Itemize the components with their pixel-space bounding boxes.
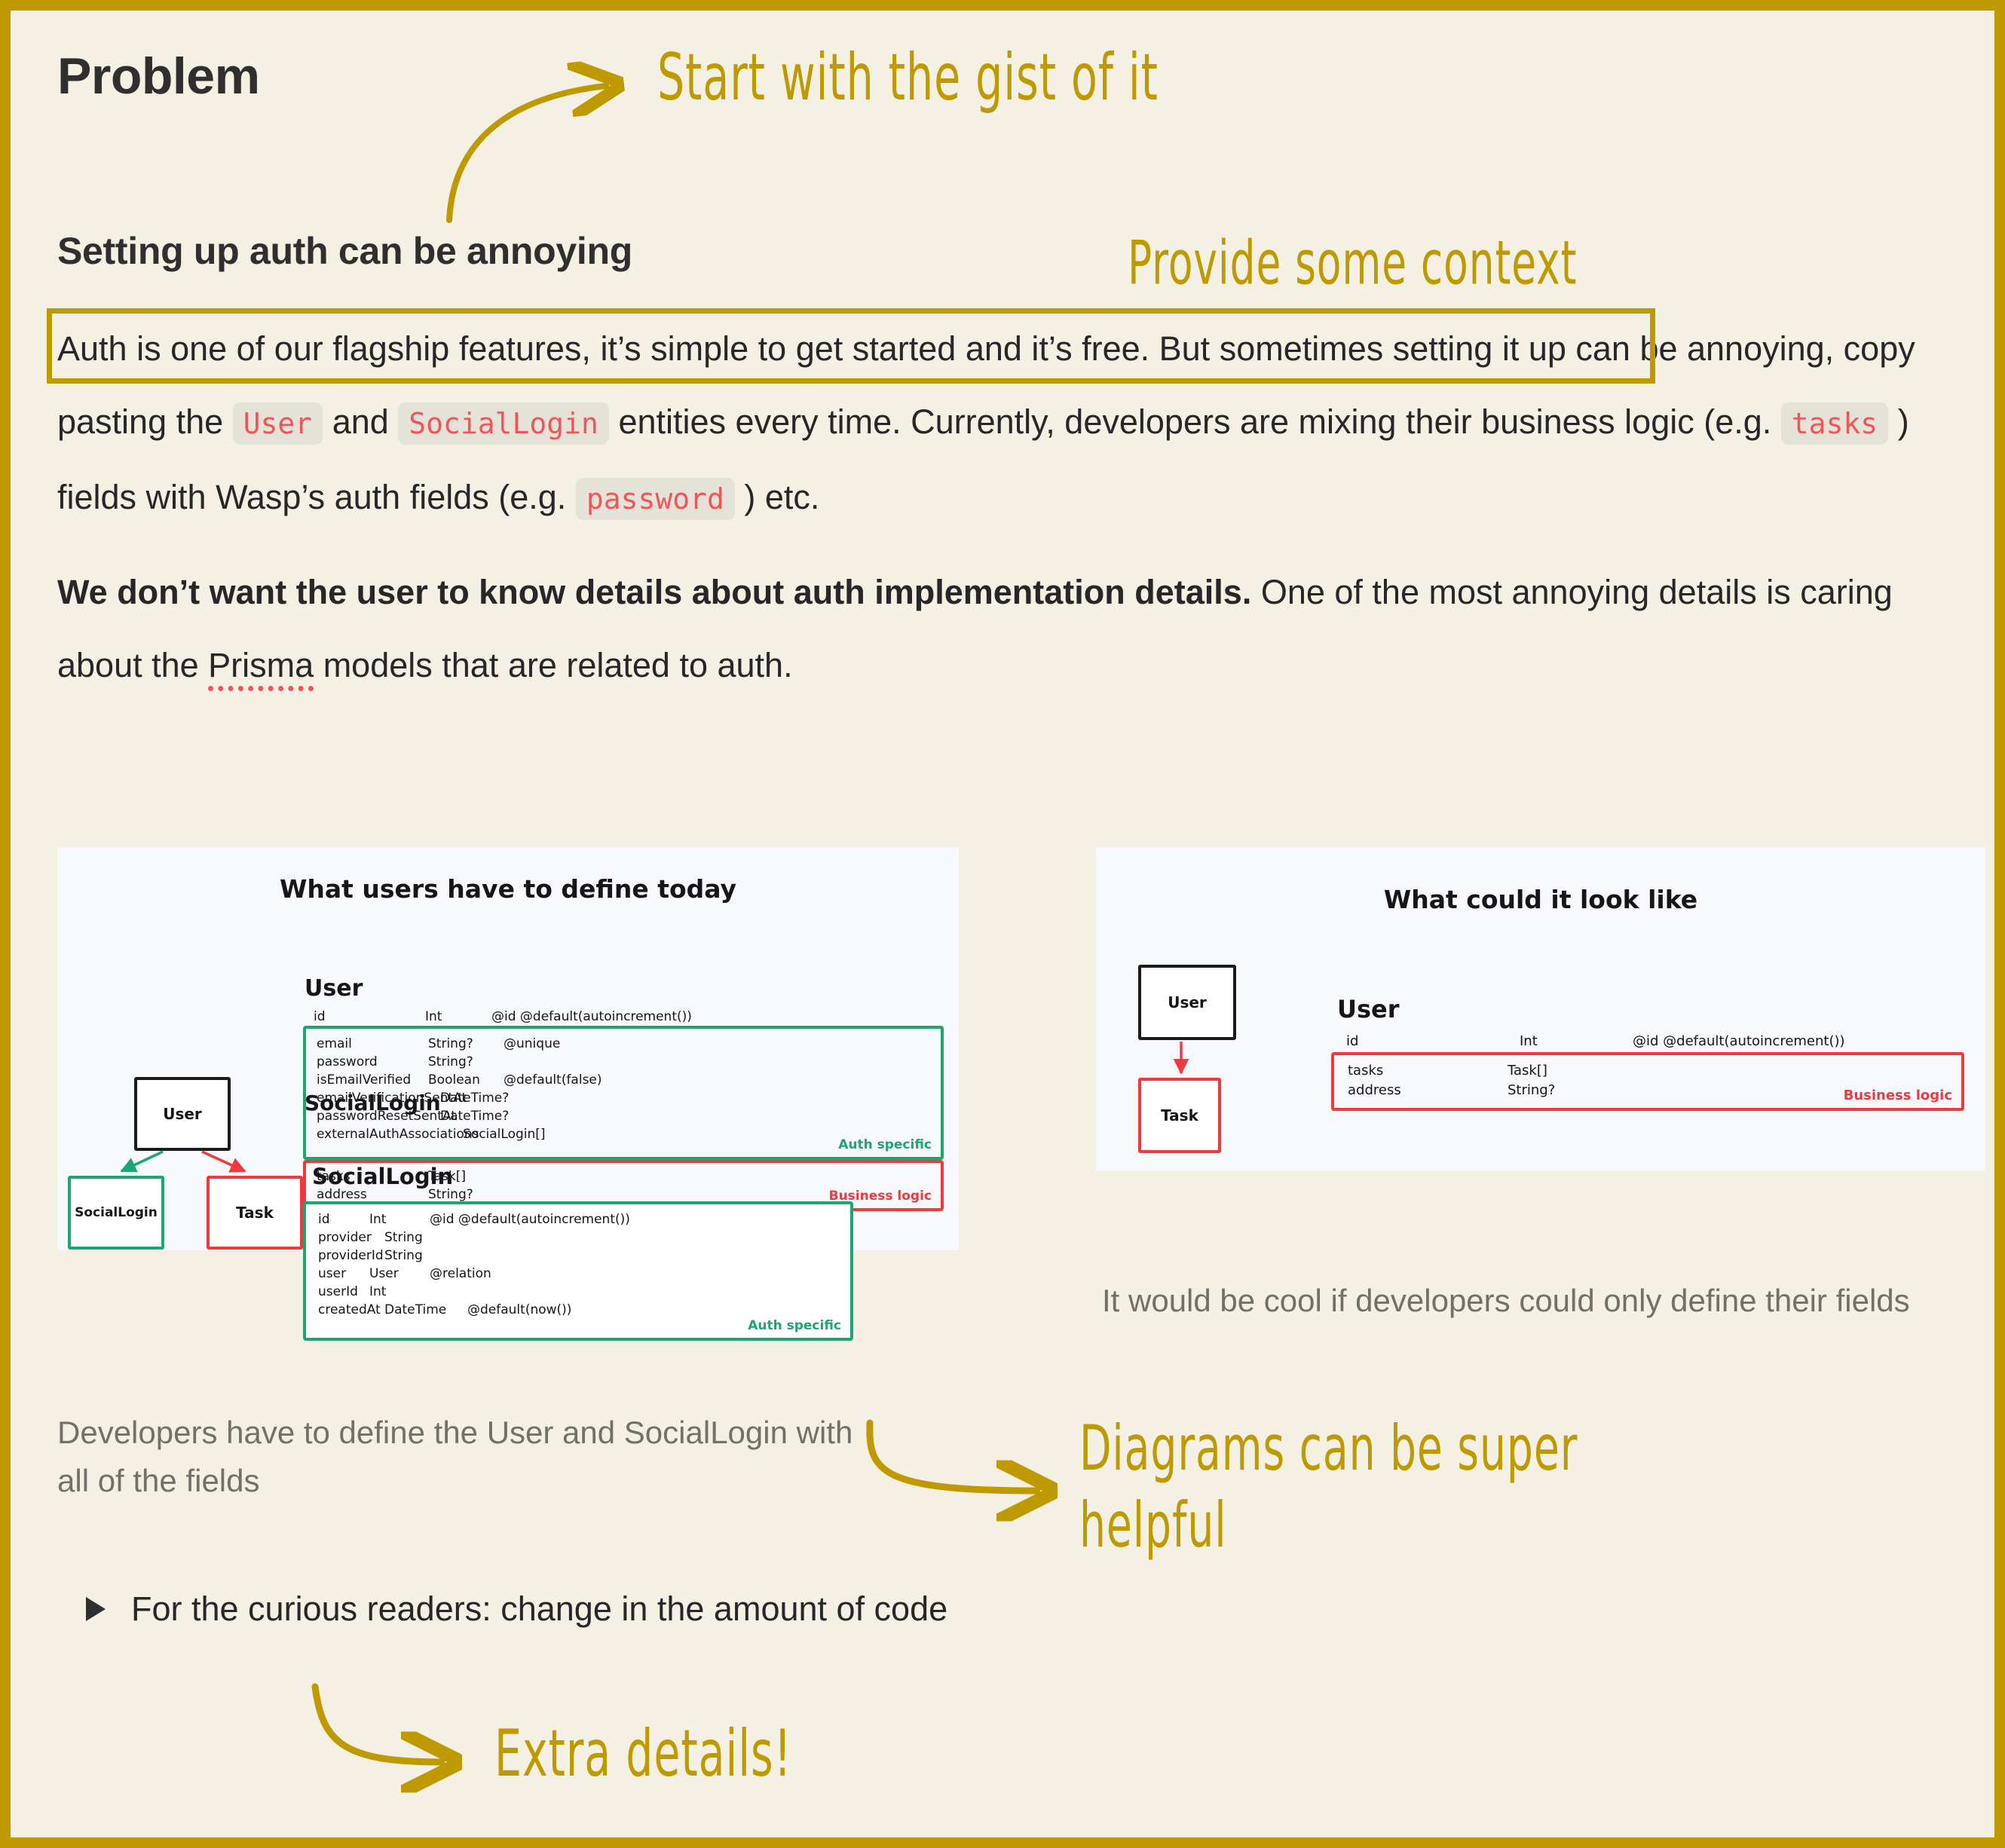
field-type: DateTime: [384, 1301, 467, 1319]
model-title-sociallogin: SocialLogin: [305, 1091, 441, 1115]
diagram-card-proposed: What could it look like User Task User i…: [1096, 847, 1985, 1171]
model-title-sociallogin: SocialLogin: [312, 1164, 453, 1189]
p1-segment-c: and: [323, 402, 398, 441]
field-name: externalAuthAssociations: [317, 1125, 463, 1143]
field-type: String?: [428, 1053, 504, 1071]
field-type: SocialLogin[]: [463, 1125, 538, 1143]
field-attrs: @default(now()): [467, 1301, 571, 1319]
caption-left-diagram: Developers have to define the User and S…: [57, 1409, 886, 1505]
triangle-right-icon[interactable]: [86, 1597, 106, 1621]
field-name: address: [1348, 1081, 1508, 1100]
entity-label: Task: [1161, 1106, 1198, 1124]
field-name: providerId: [318, 1247, 384, 1265]
field-type: User: [369, 1265, 430, 1283]
field-name: password: [317, 1053, 428, 1071]
model-title-user: User: [1337, 995, 1400, 1023]
diagram-left-title: What users have to define today: [57, 874, 959, 904]
entity-box-task: Task: [1138, 1078, 1221, 1153]
field-name: tasks: [1348, 1061, 1508, 1081]
field-type: DateTime?: [440, 1089, 516, 1107]
p1-segment-f: ) etc.: [735, 478, 820, 516]
page-title: Problem: [57, 47, 260, 106]
tag-auth-specific: Auth specific: [838, 1137, 932, 1152]
field-type: String: [384, 1228, 423, 1247]
field-type: Int: [369, 1283, 386, 1301]
annotation-diagrams-line2: helpful: [1079, 1489, 1227, 1562]
slide-frame: Problem Setting up auth can be annoying …: [0, 0, 2005, 1848]
entity-label: SocialLogin: [75, 1205, 158, 1220]
field-type: Task[]: [1508, 1061, 1547, 1081]
caption-right-diagram: It would be cool if developers could onl…: [1102, 1277, 1969, 1325]
entity-box-user: User: [1138, 965, 1236, 1040]
field-type: DateTime?: [440, 1107, 516, 1125]
entity-box-task: Task: [207, 1176, 303, 1250]
prisma-term: Prisma: [208, 646, 314, 691]
field-attrs: @id @default(autoincrement()): [491, 1008, 692, 1026]
field-name: id: [314, 1008, 425, 1026]
annotation-context: Provide some context: [1128, 228, 1577, 298]
field-type: Int: [369, 1210, 430, 1228]
field-type: Boolean: [428, 1071, 504, 1089]
field-name: id: [318, 1210, 369, 1228]
diagram-right-title: What could it look like: [1096, 885, 1985, 914]
code-tasks: tasks: [1781, 402, 1888, 445]
collapsible-details-row[interactable]: For the curious readers: change in the a…: [86, 1589, 947, 1629]
field-type: Int: [425, 1008, 491, 1026]
diagram-card-current: What users have to define today User Soc…: [57, 847, 959, 1250]
model-user-fields: idInt@id @default(autoincrement()): [314, 1008, 692, 1026]
field-attrs: @id @default(autoincrement()): [430, 1210, 630, 1228]
paragraph-2: We don’t want the user to know details a…: [57, 555, 1972, 702]
field-type: String: [384, 1247, 423, 1265]
annotation-gist: Start with the gist of it: [657, 39, 1159, 115]
field-name: createdAt: [318, 1301, 384, 1319]
auth-specific-group-sociallogin: idInt@id @default(autoincrement()) provi…: [303, 1201, 853, 1341]
model-title-user: User: [305, 975, 363, 1002]
code-sociallogin: SocialLogin: [398, 402, 609, 445]
field-attrs: @unique: [504, 1035, 560, 1053]
p1-segment-a: Auth is one of our flagship features, it…: [57, 329, 1149, 368]
details-summary-label[interactable]: For the curious readers: change in the a…: [131, 1589, 947, 1629]
section-subheading: Setting up auth can be annoying: [57, 229, 632, 273]
annotation-arrow-to-details: [309, 1682, 490, 1788]
field-name: id: [1346, 1032, 1520, 1051]
annotation-extra-details: Extra details!: [494, 1715, 791, 1791]
annotation-arrow-to-diagrams: [864, 1418, 1090, 1516]
field-name: userId: [318, 1283, 369, 1301]
field-attrs: @id @default(autoincrement()): [1633, 1032, 1845, 1051]
tag-auth-specific: Auth specific: [748, 1318, 841, 1333]
p2-bold-lead: We don’t want the user to know details a…: [57, 573, 1251, 611]
problem-body: Auth is one of our flagship features, it…: [57, 312, 1972, 721]
entity-label: User: [1168, 993, 1207, 1011]
field-type: String?: [1508, 1081, 1555, 1100]
field-name: email: [317, 1035, 428, 1053]
field-type: Int: [1520, 1032, 1633, 1051]
business-logic-group-user: tasksTask[] addressString? Business logi…: [1331, 1052, 1964, 1111]
field-type: String?: [428, 1035, 504, 1053]
p1-segment-d: entities every time. Currently, develope…: [609, 402, 1781, 441]
tag-business-logic: Business logic: [1844, 1088, 1952, 1103]
field-name: user: [318, 1265, 369, 1283]
field-attrs: @relation: [430, 1265, 491, 1283]
field-attrs: @default(false): [504, 1071, 602, 1089]
entity-box-user: User: [134, 1077, 231, 1151]
entity-label: User: [163, 1105, 202, 1123]
field-name: isEmailVerified: [317, 1071, 428, 1089]
paragraph-1: Auth is one of our flagship features, it…: [57, 312, 1972, 536]
p2-segment-b: models that are related to auth.: [314, 646, 792, 684]
field-name: provider: [318, 1228, 384, 1247]
entity-box-sociallogin: SocialLogin: [68, 1176, 164, 1250]
code-password: password: [576, 478, 735, 520]
entity-label: Task: [236, 1204, 274, 1222]
model-sociallogin-wrapper: SocialLogin: [312, 1164, 453, 1189]
annotation-diagrams-line1: Diagrams can be super: [1079, 1412, 1578, 1485]
model-user-header-fields: idInt@id @default(autoincrement()): [1346, 1032, 1845, 1051]
code-user: User: [233, 402, 323, 445]
